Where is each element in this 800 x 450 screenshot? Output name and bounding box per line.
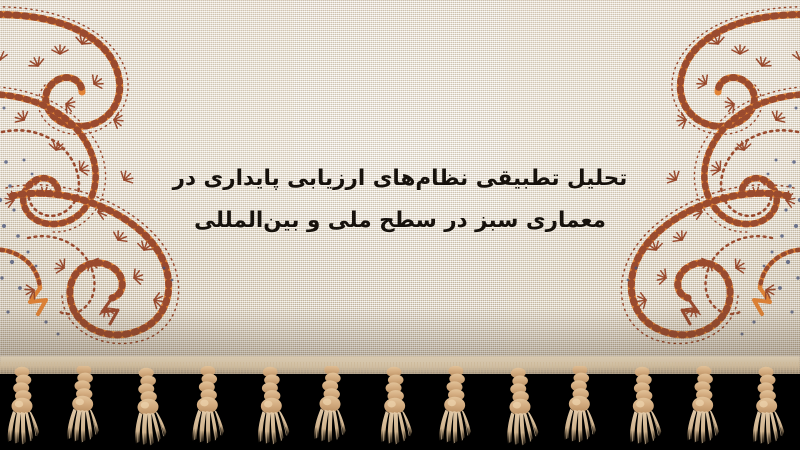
title-line-2: معماری سبز در سطح ملی و بین‌المللی — [194, 200, 606, 242]
cloth-hem — [0, 356, 800, 374]
title-slide: تحلیل تطبیقی نظام‌های ارزیابی پایداری در… — [0, 0, 800, 450]
cloth-hem-fuzz — [0, 362, 800, 374]
title-line-1: تحلیل تطبیقی نظام‌های ارزیابی پایداری در — [173, 158, 628, 200]
slide-title: تحلیل تطبیقی نظام‌های ارزیابی پایداری در… — [0, 158, 800, 242]
